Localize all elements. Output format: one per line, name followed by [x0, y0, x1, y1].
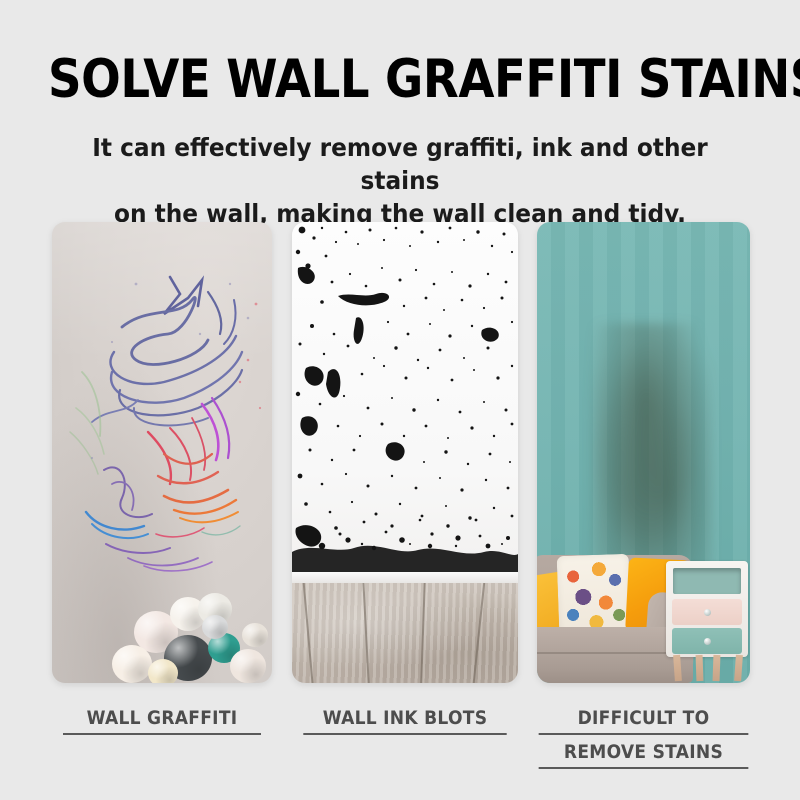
- nightstand-leg: [673, 655, 682, 681]
- panel-difficult-stains: [537, 222, 750, 683]
- nightstand-drawer-teal: [672, 628, 742, 654]
- pompom-cluster: [52, 537, 272, 683]
- wood-floor: [292, 583, 518, 683]
- caption-line: DIFFICULT TO: [539, 705, 749, 735]
- caption-line: REMOVE STAINS: [539, 739, 749, 769]
- caption-wall-graffiti: WALL GRAFFITI: [63, 705, 261, 739]
- drawer-knob-icon: [704, 638, 711, 645]
- nightstand-open-shelf: [673, 568, 741, 594]
- wood-grain-texture: [292, 583, 518, 683]
- panel-wall-graffiti: [52, 222, 272, 683]
- nightstand-leg: [713, 655, 721, 681]
- caption-difficult-stains: DIFFICULT TO REMOVE STAINS: [539, 705, 749, 773]
- subtitle-line-1: It can effectively remove graffiti, ink …: [92, 133, 707, 195]
- nightstand-leg: [734, 655, 743, 681]
- page-title: SOLVE WALL GRAFFITI STAINS: [48, 52, 752, 108]
- pillow-floral: [557, 554, 632, 636]
- ink-splatter-overlay: [292, 222, 518, 584]
- nightstand-leg: [696, 655, 704, 681]
- caption-line: WALL GRAFFITI: [63, 705, 261, 735]
- pompom: [112, 645, 152, 683]
- panel-wall-ink-blots: [292, 222, 518, 683]
- subtitle: It can effectively remove graffiti, ink …: [65, 131, 735, 230]
- nightstand: [666, 561, 748, 681]
- pompom: [230, 649, 266, 683]
- caption-line: WALL INK BLOTS: [303, 705, 506, 735]
- pompom: [202, 615, 228, 639]
- caption-wall-ink-blots: WALL INK BLOTS: [303, 705, 506, 739]
- nightstand-drawer-pink: [672, 599, 742, 625]
- pompom: [148, 659, 178, 683]
- infographic-canvas: SOLVE WALL GRAFFITI STAINS It can effect…: [0, 0, 800, 800]
- nightstand-body: [666, 561, 748, 657]
- drawer-knob-icon: [704, 609, 711, 616]
- pompom: [242, 623, 268, 647]
